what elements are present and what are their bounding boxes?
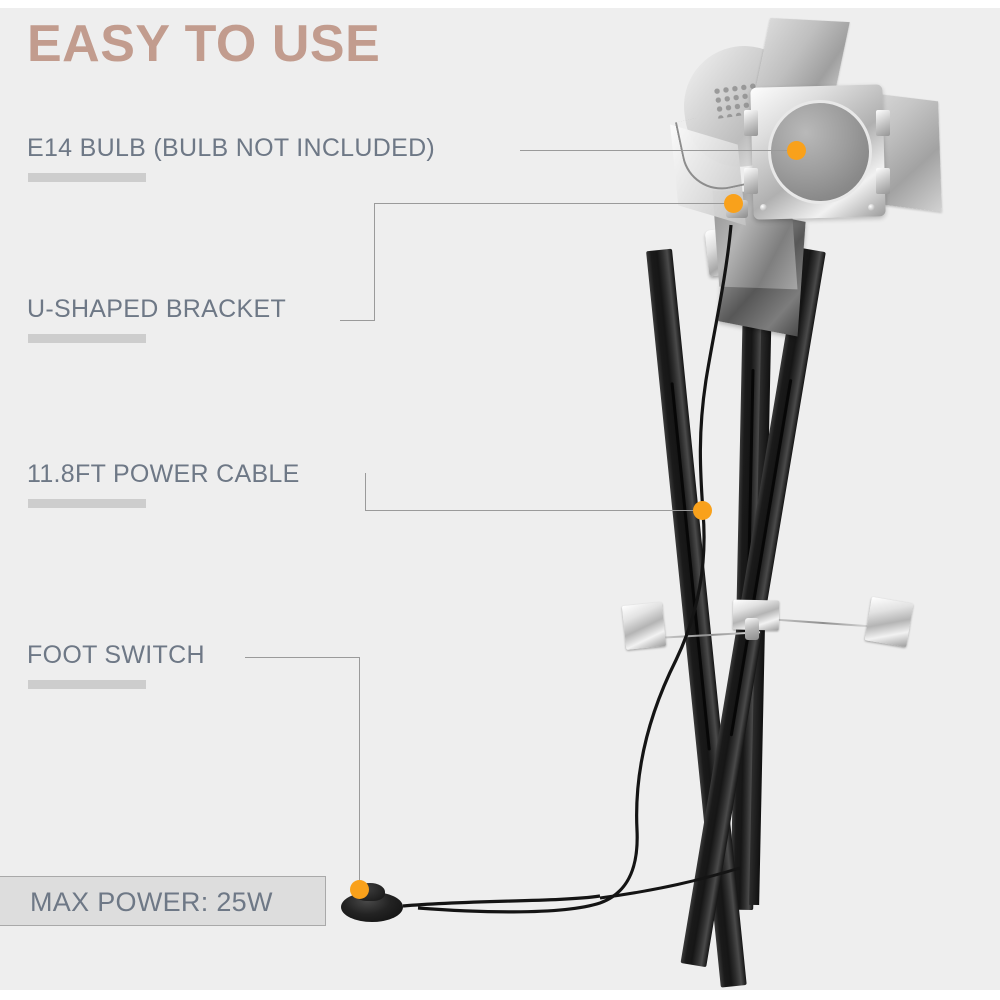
leader-line-switch-a — [245, 657, 360, 658]
cable-marker — [693, 501, 712, 520]
hinge-right-top — [876, 110, 890, 136]
brace-knob — [745, 618, 759, 640]
bracket-marker — [724, 194, 743, 213]
screw-b — [868, 204, 875, 211]
hinge-right-bottom — [876, 168, 890, 194]
page-title: EASY TO USE — [27, 14, 380, 74]
feature-bulb-label: E14 BULB (BULB NOT INCLUDED) — [27, 133, 435, 163]
feature-bulb-accent-bar — [28, 173, 146, 182]
leg-collar-left — [622, 602, 666, 650]
feature-bracket-accent-bar — [28, 334, 146, 343]
screw-a — [760, 204, 767, 211]
leader-line-cable-b — [365, 510, 703, 511]
feature-cable-label: 11.8FT POWER CABLE — [27, 459, 300, 489]
feature-switch-accent-bar — [28, 680, 146, 689]
spotlight-head — [660, 18, 940, 248]
hinge-left-bottom — [744, 168, 758, 194]
bottom-white-strip — [0, 990, 1000, 1000]
hinge-left-top — [744, 110, 758, 136]
leader-line-switch-b — [359, 657, 360, 889]
leader-line-cable-a — [365, 473, 366, 511]
leader-line-bracket-b — [374, 203, 375, 321]
leg-collar-right — [865, 597, 914, 647]
leader-line-bracket-a — [340, 320, 375, 321]
max-power-text: MAX POWER: 25W — [30, 886, 273, 918]
feature-bracket-label: U-SHAPED BRACKET — [27, 294, 286, 324]
feature-switch-label: FOOT SWITCH — [27, 640, 205, 670]
switch-marker — [350, 880, 369, 899]
cross-brace-right — [768, 618, 878, 628]
leader-line-bracket-c — [374, 203, 734, 204]
leader-line-bulb — [520, 150, 797, 151]
feature-cable-accent-bar — [28, 499, 146, 508]
bulb-marker — [787, 141, 806, 160]
infographic-canvas: EASY TO USE E14 BULB (BULB NOT INCLUDED)… — [0, 0, 1000, 1000]
max-power-tag: MAX POWER: 25W — [0, 876, 326, 926]
